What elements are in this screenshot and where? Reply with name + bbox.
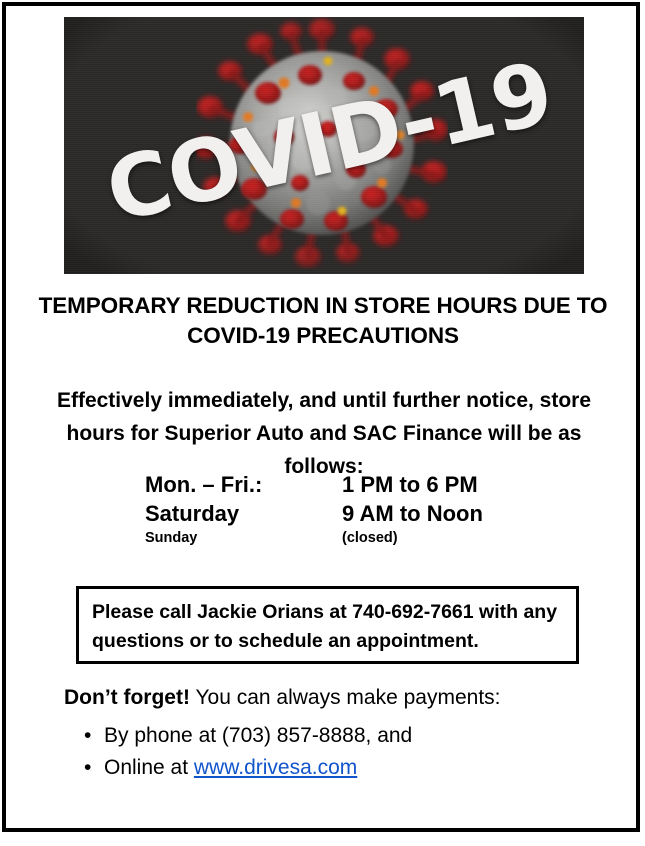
hours-row: Sunday (closed) bbox=[145, 530, 525, 554]
bullet-icon: • bbox=[84, 752, 91, 784]
page-title: TEMPORARY REDUCTION IN STORE HOURS DUE T… bbox=[28, 291, 618, 351]
list-item: •By phone at (703) 857-8888, and bbox=[78, 720, 608, 752]
hours-row: Saturday 9 AM to Noon bbox=[145, 501, 525, 530]
hours-day-label: Mon. – Fri.: bbox=[145, 472, 342, 498]
payments-list: •By phone at (703) 857-8888, and •Online… bbox=[78, 720, 608, 784]
hours-day-label: Saturday bbox=[145, 501, 342, 527]
list-item: •Online at www.drivesa.com bbox=[78, 752, 608, 784]
website-link[interactable]: www.drivesa.com bbox=[194, 756, 357, 779]
payments-heading-lead: Don’t forget! bbox=[64, 686, 190, 709]
payment-online-prefix: Online at bbox=[104, 756, 194, 779]
hours-day-label: Sunday bbox=[145, 530, 342, 546]
intro-paragraph: Effectively immediately, and until furth… bbox=[32, 384, 616, 483]
hours-value-text: 9 AM to Noon bbox=[342, 501, 525, 527]
payments-heading-tail: You can always make payments: bbox=[190, 686, 501, 709]
store-hours-table: Mon. – Fri.: 1 PM to 6 PM Saturday 9 AM … bbox=[145, 472, 525, 554]
bullet-icon: • bbox=[84, 720, 91, 752]
flyer-page: COVID-19 TEMPORARY REDUCTION IN STORE HO… bbox=[2, 2, 640, 832]
contact-box: Please call Jackie Orians at 740-692-766… bbox=[76, 586, 579, 664]
hours-value-text: (closed) bbox=[342, 530, 525, 546]
payment-by-phone-text: By phone at (703) 857-8888, and bbox=[104, 724, 412, 747]
hours-value-text: 1 PM to 6 PM bbox=[342, 472, 525, 498]
contact-instructions: Please call Jackie Orians at 740-692-766… bbox=[92, 598, 568, 656]
payments-heading: Don’t forget! You can always make paymen… bbox=[64, 684, 604, 712]
hours-row: Mon. – Fri.: 1 PM to 6 PM bbox=[145, 472, 525, 501]
virion-illustration bbox=[196, 17, 448, 269]
covid-19-virus-image: COVID-19 bbox=[64, 17, 584, 274]
